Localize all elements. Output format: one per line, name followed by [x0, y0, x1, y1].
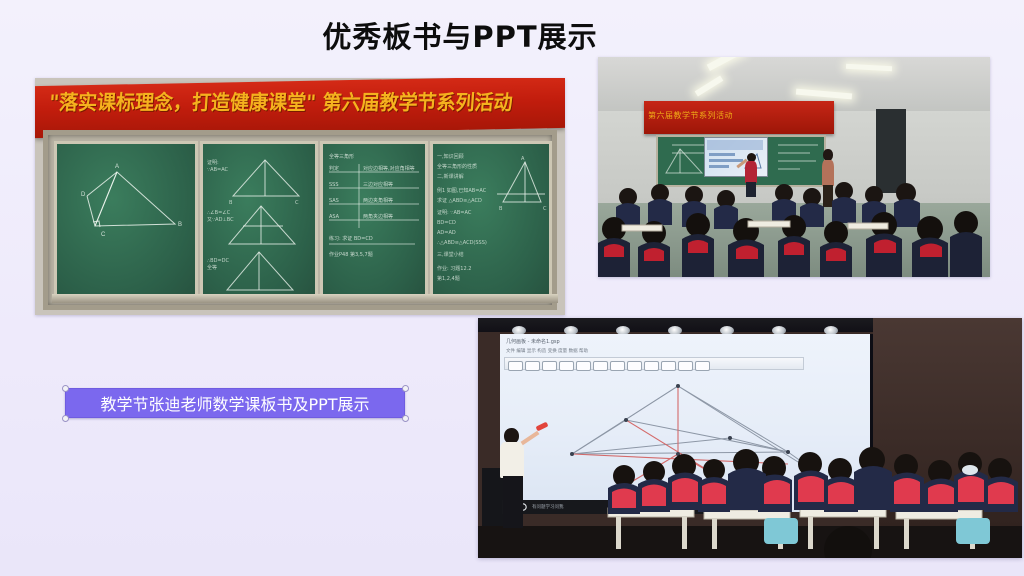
svg-text:A: A	[521, 156, 525, 162]
svg-text:两边夹角相等: 两边夹角相等	[363, 197, 393, 204]
blackboard-panel-2: 证明:∵AB=AC ∴∠B=∠C又∵AD⊥BC ∴BD=DC全等 BC BFC	[200, 141, 318, 303]
svg-text:全等三角形: 全等三角形	[329, 153, 354, 160]
svg-text:AD=AD: AD=AD	[437, 230, 456, 236]
svg-text:全等: 全等	[207, 264, 217, 271]
svg-text:三,课堂小结: 三,课堂小结	[437, 251, 464, 258]
svg-text:证明:: 证明:	[207, 159, 219, 166]
svg-text:作业: 习题12.2: 作业: 习题12.2	[437, 265, 471, 272]
svg-text:∴BD=DC: ∴BD=DC	[207, 258, 230, 264]
svg-text:D: D	[81, 192, 86, 198]
triangle-diagram-3: 一,知识回顾 全等三角形的性质 二,新课讲解 例1 如图,已知AB=AC 求证 …	[433, 144, 549, 300]
blackboard-panel-3: 全等三角形 判定对应边相等,对应角相等 SSS三边对应相等 SAS两边夹角相等 …	[320, 141, 428, 303]
svg-text:练习: 求证 BD=CD: 练习: 求证 BD=CD	[329, 235, 373, 242]
svg-text:第1,2,4题: 第1,2,4题	[437, 275, 460, 282]
svg-text:∴∠B=∠C: ∴∠B=∠C	[207, 210, 231, 216]
selection-handle-bl[interactable]	[62, 415, 69, 422]
svg-text:求证 △ABD≌△ACD: 求证 △ABD≌△ACD	[437, 197, 482, 204]
selection-handle-br[interactable]	[402, 415, 409, 422]
caption-box[interactable]: 教学节张迪老师数学课板书及PPT展示	[65, 388, 405, 418]
red-banner-text: "落实课标理念，打造健康课堂" 第六届教学节系列活动	[48, 87, 556, 124]
svg-text:二,新课讲解: 二,新课讲解	[437, 173, 464, 180]
svg-text:判定: 判定	[329, 165, 339, 172]
svg-text:A: A	[115, 164, 119, 170]
face-mask	[962, 465, 978, 475]
triangle-diagram-2: 证明:∵AB=AC ∴∠B=∠C又∵AD⊥BC ∴BD=DC全等 BC BFC	[203, 144, 315, 300]
slide-canvas: 优秀板书与PPT展示 "落实课标理念，打造健康课堂" 第六届教学节系列活动 A …	[0, 0, 1024, 576]
selection-handle-tl[interactable]	[62, 385, 69, 392]
page-title: 优秀板书与PPT展示	[0, 14, 920, 56]
blackboard-panel-4: 一,知识回顾 全等三角形的性质 二,新课讲解 例1 如图,已知AB=AC 求证 …	[430, 141, 552, 303]
svg-text:SSS: SSS	[329, 182, 339, 188]
svg-text:作业P48 第3,5,7题: 作业P48 第3,5,7题	[329, 251, 373, 258]
svg-text:B: B	[229, 200, 233, 206]
stage-students-group	[478, 446, 1022, 558]
svg-text:证明: ∵AB=AC: 证明: ∵AB=AC	[437, 209, 472, 216]
blackboard-photo[interactable]: "落实课标理念，打造健康课堂" 第六届教学节系列活动 A B D C	[35, 78, 565, 315]
svg-text:SAS: SAS	[329, 198, 339, 204]
svg-text:∴△ABD≌△ACD(SSS): ∴△ABD≌△ACD(SSS)	[437, 240, 487, 246]
svg-text:B: B	[178, 222, 182, 228]
caption-text: 教学节张迪老师数学课板书及PPT展示	[100, 391, 369, 415]
students-group	[598, 167, 990, 277]
classroom-banner-text: 第六届教学节系列活动	[648, 110, 830, 122]
svg-text:ASA: ASA	[329, 214, 340, 220]
svg-text:又∵AD⊥BC: 又∵AD⊥BC	[207, 216, 234, 223]
svg-text:全等三角形的性质: 全等三角形的性质	[437, 163, 477, 170]
svg-text:对应边相等,对应角相等: 对应边相等,对应角相等	[363, 165, 415, 172]
svg-text:C: C	[295, 200, 299, 206]
triangle-diagram-1: A B D C	[57, 144, 195, 300]
svg-text:一,知识回顾: 一,知识回顾	[437, 153, 464, 160]
svg-text:BD=CD: BD=CD	[437, 220, 456, 226]
blackboard-frame: A B D C 证明:∵AB=AC ∴∠B=∠C又∵AD⊥BC	[43, 130, 557, 310]
svg-text:C: C	[543, 206, 547, 212]
svg-text:例1 如图,已知AB=AC: 例1 如图,已知AB=AC	[437, 187, 487, 194]
selection-handle-tr[interactable]	[402, 385, 409, 392]
stage-photo[interactable]: 几何画板 - 未命名1.gsp 文件 编辑 显示 构造 变换 度量 数据 帮助	[478, 318, 1022, 558]
notes-table: 全等三角形 判定对应边相等,对应角相等 SSS三边对应相等 SAS两边夹角相等 …	[323, 144, 425, 300]
svg-text:C: C	[101, 232, 106, 238]
svg-text:两角夹边相等: 两角夹边相等	[363, 213, 393, 220]
svg-text:∵AB=AC: ∵AB=AC	[207, 167, 229, 173]
blackboard-panel-1: A B D C	[54, 141, 198, 303]
svg-text:B: B	[499, 206, 503, 212]
chalk-ledge	[52, 294, 558, 303]
svg-text:三边对应相等: 三边对应相等	[363, 181, 393, 188]
classroom-photo[interactable]: 第六届教学节系列活动	[598, 57, 990, 277]
